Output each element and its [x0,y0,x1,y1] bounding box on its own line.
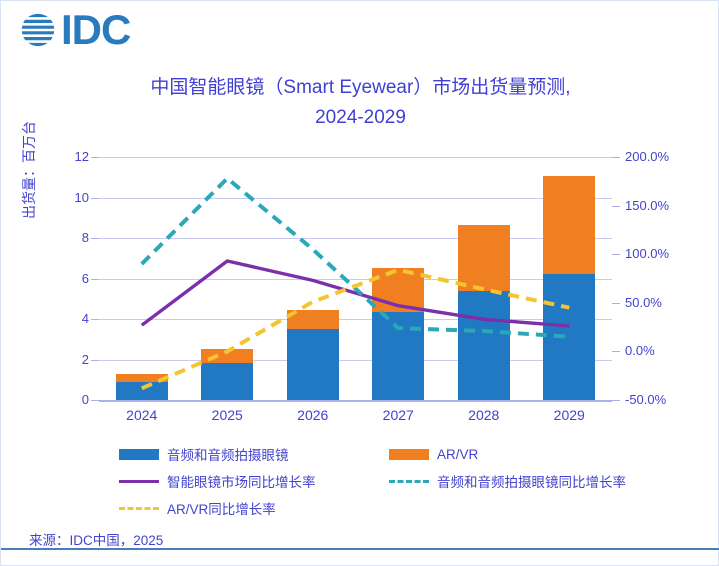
legend-row-2: 智能眼镜市场同比增长率 音频和音频拍摄眼镜同比增长率 [119,471,639,491]
legend-dash-arvr-growth [119,507,159,510]
legend-row-1: 音频和音频拍摄眼镜 AR/VR [119,444,639,464]
bar-segment-audio[interactable] [372,312,424,400]
gridline [99,360,612,361]
bar-segment-arvr[interactable] [201,349,253,362]
y-axis-left-tick-mark [91,400,99,401]
source-note: 来源：IDC中国，2025 [29,529,163,549]
bar-segment-arvr[interactable] [458,225,510,291]
chart-title: 中国智能眼镜（Smart Eyewear）市场出货量预测, 2024-2029 [1,73,719,133]
y-axis-left-tick-mark [91,319,99,320]
chart-title-line2: 2024-2029 [1,103,719,133]
bar-segment-arvr[interactable] [116,374,168,382]
gridline [99,319,612,320]
bar-segment-audio[interactable] [458,291,510,400]
y-axis-left-tick-label: 2 [49,355,89,365]
y-axis-right-tick-label: 100.0% [625,249,695,259]
y-axis-right-tick-mark [612,303,620,304]
y-axis-right-tick-mark [612,351,620,352]
y-axis-left-tick-label: 8 [49,233,89,243]
x-axis-tick-label: 2027 [356,407,441,423]
x-axis-tick-label: 2028 [441,407,526,423]
bar-segment-audio[interactable] [201,363,253,401]
y-axis-left-tick-label: 10 [49,193,89,203]
idc-globe-icon [19,11,57,49]
legend-item-audio-growth[interactable]: 音频和音频拍摄眼镜同比增长率 [389,471,626,491]
footer-divider [1,548,719,550]
legend-label-market-growth: 智能眼镜市场同比增长率 [167,471,316,491]
legend-item-audio[interactable]: 音频和音频拍摄眼镜 [119,444,389,464]
y-axis-left-tick-mark [91,360,99,361]
bar-segment-arvr[interactable] [543,176,595,274]
y-axis-right-tick-mark [612,206,620,207]
y-axis-right-tick-label: 200.0% [625,152,695,162]
bar-segment-audio[interactable] [543,274,595,400]
legend-label-arvr-growth: AR/VR同比增长率 [167,498,276,518]
legend-item-arvr-growth[interactable]: AR/VR同比增长率 [119,498,389,518]
y-axis-right-tick-label: 0.0% [625,346,695,356]
y-axis-left-tick-label: 6 [49,274,89,284]
x-axis-tick-label: 2029 [527,407,612,423]
legend-swatch-arvr [389,449,429,460]
y-axis-right-tick-label: 50.0% [625,298,695,308]
legend-label-audio: 音频和音频拍摄眼镜 [167,444,289,464]
y-axis-right-tick-mark [612,400,620,401]
idc-logo: IDC [19,11,130,49]
bar-segment-audio[interactable] [116,382,168,400]
x-axis-tick-label: 2024 [99,407,184,423]
legend-line-market-growth [119,480,159,483]
x-axis-tick-label: 2025 [185,407,270,423]
y-axis-left-tick-mark [91,198,99,199]
gridline [99,157,612,158]
y-axis-left-tick-mark [91,157,99,158]
legend-label-audio-growth: 音频和音频拍摄眼镜同比增长率 [437,471,626,491]
y-axis-right-tick-mark [612,157,620,158]
legend-swatch-audio [119,449,159,460]
legend-label-arvr: AR/VR [437,447,478,462]
x-axis-tick-label: 2026 [270,407,355,423]
y-axis-right-tick-mark [612,254,620,255]
y-axis-left-tick-label: 12 [49,152,89,162]
chart-title-line1: 中国智能眼镜（Smart Eyewear）市场出货量预测, [150,77,570,98]
legend-item-arvr[interactable]: AR/VR [389,447,478,462]
legend-item-market-growth[interactable]: 智能眼镜市场同比增长率 [119,471,389,491]
y-axis-left-tick-mark [91,238,99,239]
bar-segment-arvr[interactable] [372,268,424,312]
bar-segment-arvr[interactable] [287,310,339,329]
gridline [99,279,612,280]
gridline [99,238,612,239]
plot-area [99,157,612,400]
y-axis-left-tick-label: 0 [49,395,89,405]
y-axis-title: 出货量：百万台 [19,121,39,219]
idc-wordmark: IDC [61,11,130,49]
legend-dash-audio-growth [389,480,429,483]
legend-row-3: AR/VR同比增长率 [119,498,639,518]
chart-page: IDC 中国智能眼镜（Smart Eyewear）市场出货量预测, 2024-2… [0,0,719,566]
y-axis-right-tick-label: -50.0% [625,395,695,405]
x-axis-line [99,400,612,402]
chart-legend: 音频和音频拍摄眼镜 AR/VR 智能眼镜市场同比增长率 音频和音频拍摄眼镜同比增… [119,444,639,525]
gridline [99,198,612,199]
bar-segment-audio[interactable] [287,329,339,400]
y-axis-right-tick-label: 150.0% [625,201,695,211]
y-axis-left-tick-label: 4 [49,314,89,324]
y-axis-left-tick-mark [91,279,99,280]
